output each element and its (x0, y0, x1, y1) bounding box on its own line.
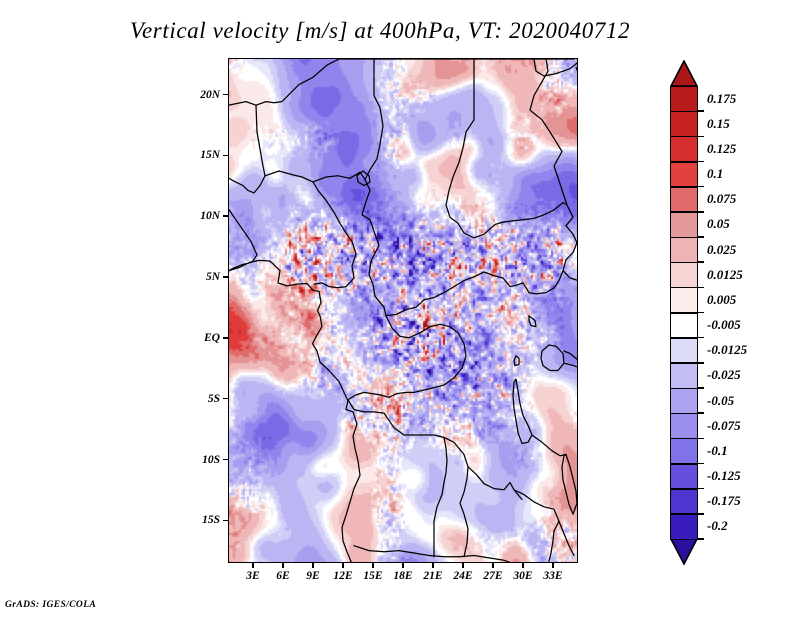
x-tick-mark (522, 563, 523, 568)
colorbar-label: -0.175 (707, 493, 741, 509)
colorbar-tick (698, 538, 704, 539)
colorbar-label: -0.1 (707, 443, 728, 459)
colorbar-label: 0.15 (707, 116, 730, 132)
colorbar-band (670, 514, 698, 540)
colorbar-tick (698, 261, 704, 262)
x-tick-mark (402, 563, 403, 568)
border-path (532, 435, 566, 456)
colorbar-band (670, 338, 698, 364)
x-axis-label: 9E (306, 570, 319, 582)
colorbar-cap-top (670, 60, 698, 86)
border-path (362, 180, 386, 316)
border-path (503, 203, 567, 223)
colorbar-band (670, 363, 698, 389)
page-title: Vertical velocity [m/s] at 400hPa, VT: 2… (0, 18, 760, 44)
colorbar-band (670, 111, 698, 137)
colorbar-label: -0.05 (707, 393, 734, 409)
colorbar-tick (698, 463, 704, 464)
y-tick-mark (223, 276, 228, 277)
x-tick-mark (372, 563, 373, 568)
colorbar-tick (698, 488, 704, 489)
colorbar-band (670, 237, 698, 263)
colorbar-label: 0.05 (707, 216, 730, 232)
colorbar-tick (698, 312, 704, 313)
border-path (474, 556, 518, 564)
border-path (229, 105, 265, 193)
colorbar-band (670, 464, 698, 490)
border-path (348, 316, 466, 400)
colorbar-label: -0.0125 (707, 342, 747, 358)
colorbar-tick (698, 211, 704, 212)
y-axis-label: 20N (186, 89, 220, 101)
border-path (313, 182, 356, 288)
border-path (514, 490, 574, 556)
border-path (564, 363, 578, 375)
border-path (548, 521, 559, 563)
colorbar-label: -0.025 (707, 367, 741, 383)
y-tick-mark (223, 398, 228, 399)
x-axis-label: 27E (483, 570, 502, 582)
x-axis-label: 21E (423, 570, 442, 582)
border-path (513, 379, 532, 444)
y-axis-label: 15N (186, 149, 220, 161)
colorbar: 0.1750.150.1250.10.0750.050.0250.01250.0… (670, 60, 698, 565)
colorbar-band (670, 413, 698, 439)
footer-credit: GrADS: IGES/COLA (5, 600, 96, 610)
colorbar-tick (698, 412, 704, 413)
colorbar-label: -0.075 (707, 418, 741, 434)
border-path (530, 59, 573, 226)
border-path (354, 546, 474, 557)
colorbar-tick (698, 387, 704, 388)
x-tick-mark (252, 563, 253, 568)
border-path (434, 437, 447, 556)
y-tick-mark (223, 155, 228, 156)
colorbar-band (670, 86, 698, 112)
border-path (541, 345, 564, 371)
x-tick-mark (342, 563, 343, 568)
colorbar-cap-bottom (670, 539, 698, 565)
y-tick-mark (223, 459, 228, 460)
colorbar-tick (698, 337, 704, 338)
x-tick-mark (282, 563, 283, 568)
colorbar-tick (698, 110, 704, 111)
colorbar-label: 0.025 (707, 242, 736, 258)
x-axis-label: 30E (513, 570, 532, 582)
border-path (386, 272, 523, 316)
y-axis-label: EQ (186, 332, 220, 344)
colorbar-band (670, 313, 698, 339)
colorbar-tick (698, 513, 704, 514)
y-tick-mark (223, 520, 228, 521)
border-path (348, 400, 522, 500)
x-axis-label: 18E (393, 570, 412, 582)
colorbar-band (670, 262, 698, 288)
y-axis-label: 10S (186, 454, 220, 466)
colorbar-band (670, 212, 698, 238)
colorbar-band (670, 187, 698, 213)
x-axis-label: 15E (363, 570, 382, 582)
x-tick-mark (492, 563, 493, 568)
x-axis-label: 6E (276, 570, 289, 582)
colorbar-tick (698, 438, 704, 439)
border-path (229, 59, 339, 105)
x-tick-mark (462, 563, 463, 568)
border-path (563, 271, 578, 292)
colorbar-label: 0.125 (707, 141, 736, 157)
x-tick-mark (432, 563, 433, 568)
y-axis-label: 5N (186, 271, 220, 283)
colorbar-label: 0.005 (707, 292, 736, 308)
y-tick-mark (223, 94, 228, 95)
map-plot-area (228, 58, 578, 563)
colorbar-tick (698, 236, 704, 237)
colorbar-band (670, 162, 698, 188)
border-path (564, 351, 578, 395)
x-tick-mark (312, 563, 313, 568)
country-borders-overlay (229, 59, 578, 563)
x-axis-label: 33E (543, 570, 562, 582)
border-path (523, 226, 577, 294)
colorbar-band (670, 136, 698, 162)
x-axis-label: 24E (453, 570, 472, 582)
colorbar-label: -0.2 (707, 518, 728, 534)
colorbar-tick (698, 161, 704, 162)
border-path (562, 455, 577, 515)
border-path (529, 316, 536, 327)
border-path (460, 467, 468, 557)
border-path (265, 171, 365, 182)
colorbar-label: -0.005 (707, 317, 741, 333)
x-axis-label: 12E (333, 570, 352, 582)
colorbar-tick (698, 136, 704, 137)
border-path (534, 59, 578, 76)
colorbar-tick (698, 362, 704, 363)
y-tick-mark (223, 215, 228, 216)
colorbar-tick (698, 186, 704, 187)
x-axis-label: 3E (246, 570, 259, 582)
border-path (514, 356, 519, 366)
colorbar-band (670, 388, 698, 414)
border-path (374, 59, 503, 238)
colorbar-band (670, 438, 698, 464)
y-axis-label: 10N (186, 210, 220, 222)
colorbar-label: -0.125 (707, 468, 741, 484)
border-path (229, 260, 360, 563)
colorbar-label: 0.075 (707, 191, 736, 207)
colorbar-label: 0.175 (707, 91, 736, 107)
y-tick-mark (223, 337, 228, 338)
x-tick-mark (552, 563, 553, 568)
border-path (576, 68, 578, 145)
colorbar-band (670, 287, 698, 313)
colorbar-band (670, 489, 698, 515)
y-axis-label: 15S (186, 514, 220, 526)
border-path (339, 59, 383, 180)
colorbar-tick (698, 287, 704, 288)
colorbar-label: 0.0125 (707, 267, 743, 283)
colorbar-label: 0.1 (707, 166, 723, 182)
y-axis-label: 5S (186, 393, 220, 405)
